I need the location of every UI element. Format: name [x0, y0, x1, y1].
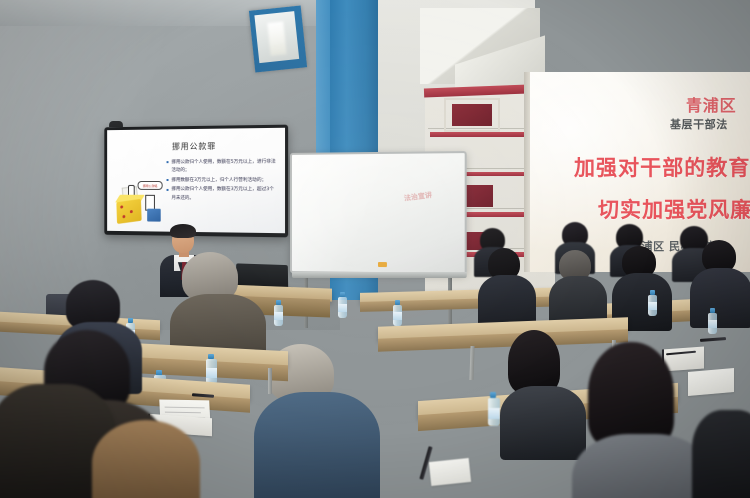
whiteboard: 法治宣讲 [290, 151, 467, 275]
banner-subtitle: 基层干部法 [670, 116, 728, 132]
slide-speech-bubble: 挪用公款咯 [138, 181, 163, 190]
water-bottle [206, 354, 217, 384]
whiteboard-assembly: 法治宣讲 [288, 152, 468, 282]
bottle-label [206, 368, 217, 378]
slide-title: 挪用公款罪 [107, 140, 285, 153]
slide-bullet: 挪用公款归个人使用，数额在5万元以上，进行非法活动的； [167, 159, 278, 176]
table-leg [268, 368, 272, 394]
paper-handout [429, 458, 471, 486]
attendee [692, 396, 750, 498]
slide-bullet: 挪用数额在3万元以上，归个人行营利活动的； [167, 177, 278, 186]
water-bottle [393, 300, 402, 326]
attendee [478, 248, 534, 326]
attendee-bag [92, 420, 192, 498]
attendee [612, 246, 670, 326]
bottle-label [393, 312, 402, 320]
slide-bullet: 挪用公款归个人使用，数额在3万元以上，超过3个月未还的。 [167, 186, 278, 204]
slide-art-box [116, 199, 141, 224]
red-inset-box [452, 104, 492, 126]
banner-headline-line-1: 加强对干部的教育、管 [574, 152, 750, 182]
presenter-hair [170, 224, 196, 238]
attendee-torso [690, 268, 750, 328]
attendee-head [588, 342, 674, 448]
seminar-photo: 青浦区 基层干部法 加强对干部的教育、管 切实加强党风廉 青浦区 民检察院 挪用… [0, 0, 750, 498]
banner-headline-line-2: 切实加强党风廉 [598, 194, 750, 224]
whiteboard-ghost-text: 法治宣讲 [386, 188, 451, 207]
bottle-label [338, 304, 347, 312]
slide-bullets: 挪用公款归个人使用，数额在5万元以上，进行非法活动的； 挪用数额在3万元以上，归… [167, 159, 278, 205]
wall-recess-panel [249, 5, 307, 72]
water-bottle [708, 308, 717, 334]
bottle-label [708, 320, 717, 328]
attendee [572, 342, 702, 498]
whiteboard-magnet [378, 262, 387, 267]
attendee [690, 240, 750, 326]
bottle-label [488, 408, 500, 419]
water-bottle [488, 392, 500, 426]
banner-organization: 青浦区 [686, 92, 736, 116]
water-bottle [648, 290, 657, 316]
attendee-torso [692, 410, 750, 498]
attendee-torso [254, 392, 380, 498]
wall-recess-light [267, 21, 286, 56]
slide-illustration: 挪用公款咯 [115, 179, 169, 227]
wall-display: 挪用公款罪 挪用公款归个人使用，数额在5万元以上，进行非法活动的； 挪用数额在3… [104, 125, 288, 238]
attendee-torso [572, 434, 712, 498]
table-leg [469, 346, 474, 380]
bottle-label [274, 312, 283, 320]
bottle-label [648, 302, 657, 310]
attendee-head [508, 330, 560, 394]
water-bottle [338, 292, 347, 318]
attendee [549, 250, 605, 328]
water-bottle [274, 300, 283, 326]
presentation-slide: 挪用公款罪 挪用公款归个人使用，数额在5万元以上，进行非法活动的； 挪用数额在3… [107, 128, 285, 233]
attendee [500, 330, 580, 450]
bag-body [92, 420, 200, 498]
whiteboard-marker-tray [292, 272, 467, 278]
slide-art-figure-blue [147, 209, 161, 222]
pen [700, 337, 726, 342]
wall-recess-inner [254, 11, 299, 63]
